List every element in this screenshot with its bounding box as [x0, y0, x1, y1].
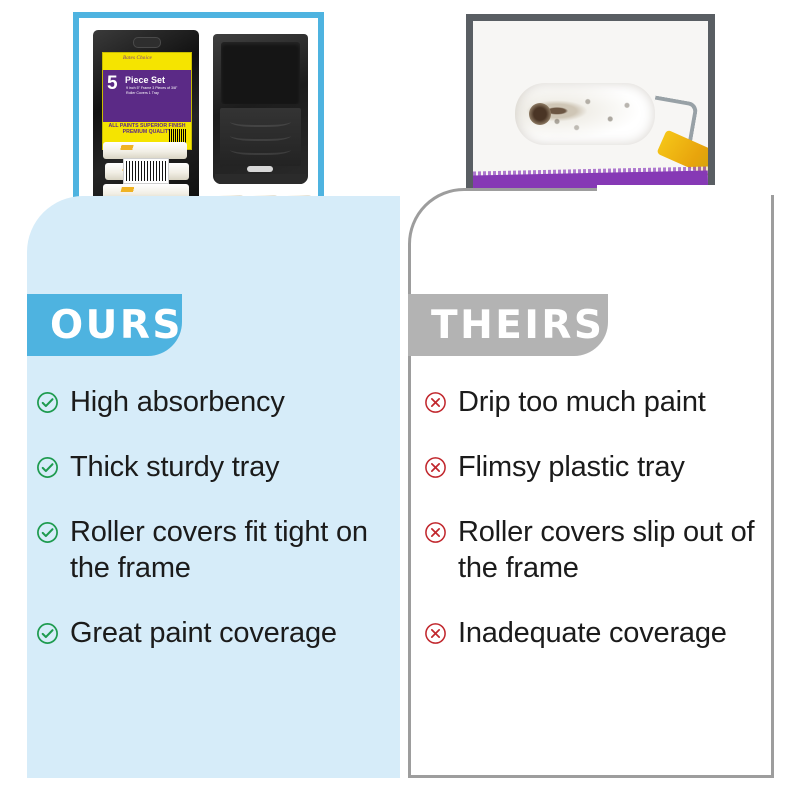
check-circle-icon: [36, 521, 59, 544]
theirs-drawback-list: Drip too much paint Flimsy plastic tray …: [424, 384, 770, 680]
package-set-label: Piece Set: [125, 75, 165, 85]
package-brand-text: Bates Choice: [123, 56, 152, 61]
package-piece-count: 5: [107, 74, 118, 93]
x-circle-icon: [424, 391, 447, 414]
package-brand-bar: Bates Choice: [103, 53, 191, 71]
roller-core: [529, 103, 551, 125]
list-item-label: Roller covers slip out of the frame: [458, 514, 770, 586]
list-item: Flimsy plastic tray: [424, 449, 770, 485]
worn-roller-cover: [515, 83, 655, 145]
ours-feature-list: High absorbency Thick sturdy tray Roller…: [36, 384, 386, 680]
check-circle-icon: [36, 622, 59, 645]
list-item-label: Inadequate coverage: [458, 615, 727, 651]
list-item: Roller covers slip out of the frame: [424, 514, 770, 586]
list-item: Roller covers fit tight on the frame: [36, 514, 386, 586]
package-roller-1: [103, 142, 187, 159]
list-item-label: Thick sturdy tray: [70, 449, 279, 485]
list-item-label: Great paint coverage: [70, 615, 337, 651]
x-circle-icon: [424, 622, 447, 645]
list-item-label: Drip too much paint: [458, 384, 706, 420]
list-item: Thick sturdy tray: [36, 449, 386, 485]
ours-banner-label: OURS: [27, 303, 183, 348]
tray-ramp: [220, 108, 301, 166]
list-item: High absorbency: [36, 384, 386, 420]
tray-grip: [247, 166, 273, 172]
list-item-label: High absorbency: [70, 384, 285, 420]
package-bullet-list: 9 inch 5" Frame 3 Pieces of 3/8" Roller …: [126, 86, 182, 95]
comparison-infographic: Bates Choice 5 Piece Set 9 inch 5" Frame…: [0, 0, 800, 800]
check-circle-icon: [36, 456, 59, 479]
theirs-banner: THEIRS: [408, 294, 608, 356]
package-purple-band: 5 Piece Set 9 inch 5" Frame 3 Pieces of …: [103, 70, 191, 122]
tray-foot: [215, 174, 306, 184]
paint-tray: [213, 34, 308, 184]
list-item-label: Flimsy plastic tray: [458, 449, 685, 485]
package-label: Bates Choice 5 Piece Set 9 inch 5" Frame…: [102, 52, 192, 150]
list-item: Inadequate coverage: [424, 615, 770, 651]
ours-banner: OURS: [27, 294, 182, 356]
list-item: Great paint coverage: [36, 615, 386, 651]
list-item-label: Roller covers fit tight on the frame: [70, 514, 386, 586]
x-circle-icon: [424, 521, 447, 544]
theirs-banner-label: THEIRS: [408, 303, 605, 348]
tray-reservoir: [221, 42, 300, 104]
package-barcode: [123, 158, 169, 184]
list-item: Drip too much paint: [424, 384, 770, 420]
x-circle-icon: [424, 456, 447, 479]
check-circle-icon: [36, 391, 59, 414]
package-hang-hole: [133, 37, 161, 48]
product-package: Bates Choice 5 Piece Set 9 inch 5" Frame…: [93, 30, 199, 210]
